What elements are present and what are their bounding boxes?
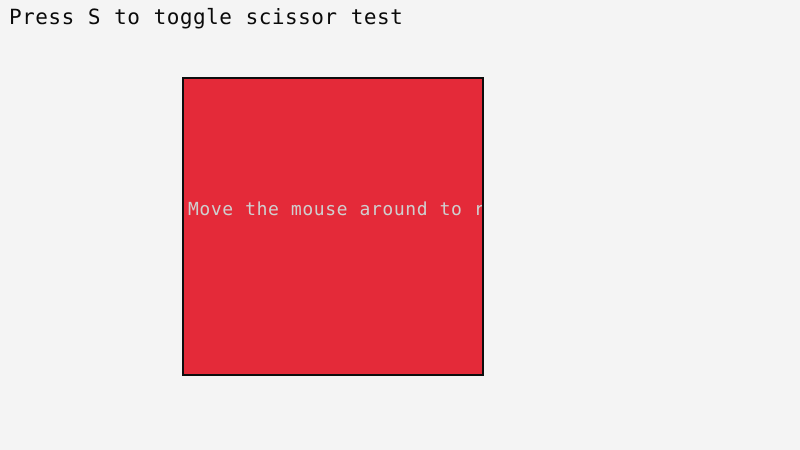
app-canvas[interactable]: Press S to toggle scissor test Move the … bbox=[0, 0, 800, 450]
scissor-clipped-message: Move the mouse around to reveal the scis… bbox=[188, 199, 484, 221]
scissor-region[interactable]: Move the mouse around to reveal the scis… bbox=[182, 77, 484, 376]
scissor-toggle-hint: Press S to toggle scissor test bbox=[9, 4, 403, 30]
